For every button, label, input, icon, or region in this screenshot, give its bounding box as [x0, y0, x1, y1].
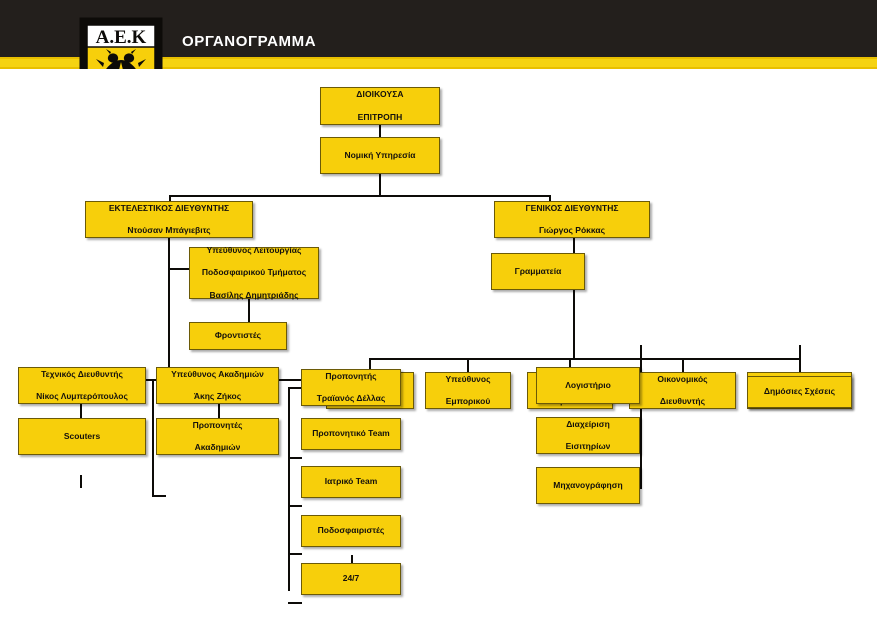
node-line-2: ΕΠΙΤΡΟΠΗ: [324, 112, 436, 123]
node-football-department-manager[interactable]: Υπεύθυνος ΛειτουργίαςΠοδοσφαιρικού Τμήμα…: [189, 247, 319, 299]
edge-n11-rail: [640, 345, 642, 489]
edge-n3-trunk: [168, 237, 170, 381]
node-line-2: Γιώργος Ρόκκας: [498, 225, 646, 236]
edge-rail-n20: [288, 602, 302, 604]
node-line-1: Υπεύθυνος Ακαδημιών: [160, 369, 275, 380]
edge-n13-n14: [80, 475, 82, 488]
node-secretariat[interactable]: Γραμματεία: [491, 253, 585, 290]
organigram-page: ΟΡΓΑΝΟΓΡΑΜΜΑ Α.Ε.Κ F.C.: [0, 0, 877, 621]
node-executive-director[interactable]: ΕΚΤΕΛΕΣΤΙΚΟΣ ΔΙΕΥΘΥΝΤΗΣΝτούσαν Μπάγιεβιτ…: [85, 201, 253, 238]
edge-n2-trunk: [379, 173, 381, 196]
node-line-1: Οικονομικός: [633, 374, 732, 385]
node-line-1: Ποδοσφαιριστές: [305, 525, 397, 536]
node-line-1: Γραμματεία: [495, 266, 581, 277]
node-legal-service[interactable]: Νομική Υπηρεσία: [320, 137, 440, 174]
node-academies-manager[interactable]: Υπεύθυνος ΑκαδημιώνΆκης Ζήκος: [156, 367, 279, 404]
node-line-3: Βασίλης Δημητριάδης: [193, 290, 315, 301]
node-line-2: Ποδοσφαιρικού Τμήματος: [193, 267, 315, 278]
node-line-2: Εισιτηρίων: [540, 441, 636, 452]
edge-rail-n18: [288, 505, 302, 507]
node-24-7[interactable]: 24/7: [301, 563, 401, 595]
node-technical-director[interactable]: Τεχνικός ΔιευθυντήςΝίκος Λυμπερόπουλος: [18, 367, 146, 404]
edge-rail-n19: [288, 553, 302, 555]
edge-to-n9: [467, 358, 469, 373]
edge-rail-n17: [288, 457, 302, 459]
node-head-coach[interactable]: ΠροπονητήςΤραϊανός Δέλλας: [301, 369, 401, 406]
node-line-2: Εμπορικού: [429, 396, 507, 407]
node-it-department[interactable]: Μηχανογράφηση: [536, 467, 640, 504]
node-line-1: Φροντιστές: [193, 330, 283, 341]
node-line-2: Ακαδημιών: [160, 442, 275, 453]
edge-center-rail: [288, 387, 290, 591]
node-line-1: Τεχνικός Διευθυντής: [22, 369, 142, 380]
org-chart-canvas: ΔΙΟΙΚΟΥΣΑΕΠΙΤΡΟΠΗ Νομική Υπηρεσία ΕΚΤΕΛΕ…: [0, 69, 877, 621]
node-line-1: ΓΕΝΙΚΟΣ ΔΙΕΥΘΥΝΤΗΣ: [498, 203, 646, 214]
node-line-2: Νίκος Λυμπερόπουλος: [22, 391, 142, 402]
node-general-director[interactable]: ΓΕΝΙΚΟΣ ΔΙΕΥΘΥΝΤΗΣΓιώργος Ρόκκας: [494, 201, 650, 238]
node-line-1: Προπονητής: [305, 371, 397, 382]
node-line-1: Διαχείριση: [540, 419, 636, 430]
svg-text:Α.Ε.Κ: Α.Ε.Κ: [96, 27, 147, 48]
node-line-2: Ντούσαν Μπάγιεβιτς: [89, 225, 249, 236]
node-players[interactable]: Ποδοσφαιριστές: [301, 515, 401, 547]
node-line-1: ΔΙΟΙΚΟΥΣΑ: [324, 89, 436, 100]
node-line-1: Δημόσιες Σχέσεις: [751, 386, 848, 397]
node-managing-committee[interactable]: ΔΙΟΙΚΟΥΣΑΕΠΙΤΡΟΠΗ: [320, 87, 440, 125]
edge-split-bar-top: [169, 195, 551, 197]
edge-gd-bottom-bar: [369, 358, 800, 360]
node-scouters[interactable]: Scouters: [18, 418, 146, 455]
node-line-1: Υπεύθυνος Λειτουργίας: [193, 245, 315, 256]
node-ticketing[interactable]: ΔιαχείρισηΕισιτηρίων: [536, 417, 640, 454]
node-line-1: Υπεύθυνος: [429, 374, 507, 385]
node-line-2: Τραϊανός Δέλλας: [305, 393, 397, 404]
node-line-1: ΕΚΤΕΛΕΣΤΙΚΟΣ ΔΙΕΥΘΥΝΤΗΣ: [89, 203, 249, 214]
node-commercial-manager[interactable]: ΥπεύθυνοςΕμπορικού: [425, 372, 511, 409]
node-kit-staff[interactable]: Φροντιστές: [189, 322, 287, 350]
node-line-1: 24/7: [305, 573, 397, 584]
page-title: ΟΡΓΑΝΟΓΡΑΜΜΑ: [182, 33, 316, 50]
edge-n3-n5: [168, 268, 190, 270]
node-line-1: Ιατρικό Team: [305, 476, 397, 487]
node-financial-director[interactable]: ΟικονομικόςΔιευθυντής: [629, 372, 736, 409]
node-line-1: Προπονητές: [160, 420, 275, 431]
node-academy-coaches[interactable]: ΠροπονητέςΑκαδημιών: [156, 418, 279, 455]
node-line-1: Νομική Υπηρεσία: [324, 150, 436, 161]
node-line-1: Λογιστήριο: [540, 380, 636, 391]
node-line-1: Scouters: [22, 431, 142, 442]
node-coaching-team[interactable]: Προπονητικό Team: [301, 418, 401, 450]
node-line-1: Μηχανογράφηση: [540, 480, 636, 491]
edge-to-n11: [682, 358, 684, 373]
edge-n5-n6: [248, 299, 250, 323]
edge-n15-rail: [152, 379, 154, 497]
node-line-2: Άκης Ζήκος: [160, 391, 275, 402]
node-line-1: Προπονητικό Team: [305, 428, 397, 439]
edge-n15-n16: [152, 495, 166, 497]
node-line-2: Διευθυντής: [633, 396, 732, 407]
node-public-relations[interactable]: Δημόσιες Σχέσεις: [747, 376, 852, 408]
node-accounting[interactable]: Λογιστήριο: [536, 367, 640, 404]
node-medical-team[interactable]: Ιατρικό Team: [301, 466, 401, 498]
